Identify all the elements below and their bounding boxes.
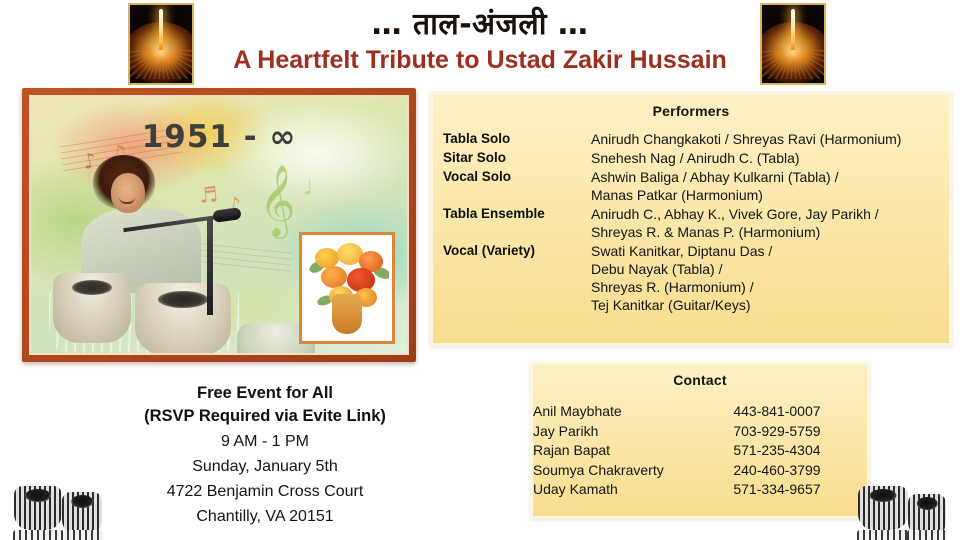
artwork-inner: ♪ ♫ ♬ ♪ ♩ 𝄞 1951 - ∞ bbox=[29, 95, 409, 355]
event-date: Sunday, January 5th bbox=[60, 455, 470, 478]
contact-phone[interactable]: 240-460-3799 bbox=[733, 461, 867, 481]
tabla-base-ring bbox=[13, 530, 64, 540]
performer-row: Vocal (Variety)Swati Kanitkar, Diptanu D… bbox=[443, 242, 939, 315]
flame-icon bbox=[159, 9, 163, 53]
performer-name-line: Tej Kanitkar (Guitar/Keys) bbox=[591, 296, 939, 314]
performer-row: Sitar SoloSnehesh Nag / Anirudh C. (Tabl… bbox=[443, 149, 939, 168]
diya-lamp-right bbox=[760, 3, 826, 85]
contact-phone[interactable]: 571-235-4304 bbox=[733, 441, 867, 461]
year-text: 1951 - ∞ bbox=[31, 119, 407, 155]
contact-row: Anil Maybhate443-841-0007 bbox=[533, 402, 867, 422]
diya-lamp-icon bbox=[762, 5, 824, 83]
performer-names: Anirudh Changkakoti / Shreyas Ravi (Harm… bbox=[591, 130, 939, 149]
event-headline-rsvp: (RSVP Required via Evite Link) bbox=[60, 405, 470, 428]
performer-name-line: Shreyas R. (Harmonium) / bbox=[591, 278, 939, 296]
performer-name-line: Anirudh Changkakoti / Shreyas Ravi (Harm… bbox=[591, 130, 939, 148]
treble-clef-icon: 𝄞 bbox=[259, 169, 296, 231]
contact-table-body: Anil Maybhate443-841-0007Jay Parikh703-9… bbox=[533, 402, 867, 500]
event-time: 9 AM - 1 PM bbox=[60, 430, 470, 453]
performers-title: Performers bbox=[443, 103, 939, 119]
diya-lamp-icon bbox=[130, 5, 192, 83]
tabla-dayan bbox=[908, 494, 946, 532]
performer-category-label: Vocal Solo bbox=[443, 168, 591, 205]
tabla-pair-icon-bottom-right bbox=[858, 466, 946, 532]
flower-bouquet-inset bbox=[299, 232, 395, 344]
performers-table-body: Tabla SoloAnirudh Changkakoti / Shreyas … bbox=[443, 130, 939, 315]
contact-name: Jay Parikh bbox=[533, 422, 733, 442]
performer-name-line: Swati Kanitkar, Diptanu Das / bbox=[591, 242, 939, 260]
contact-phone[interactable]: 571-334-9657 bbox=[733, 480, 867, 500]
contact-name: Uday Kamath bbox=[533, 480, 733, 500]
performer-name-line: Debu Nayak (Tabla) / bbox=[591, 260, 939, 278]
contact-row: Rajan Bapat571-235-4304 bbox=[533, 441, 867, 461]
event-address-line-2: Chantilly, VA 20151 bbox=[60, 505, 470, 528]
performer-name-line: Shreyas R. & Manas P. (Harmonium) bbox=[591, 223, 939, 241]
tabla-base-ring bbox=[61, 530, 103, 540]
contact-title: Contact bbox=[533, 372, 867, 388]
flower-icon bbox=[321, 266, 347, 288]
performer-name-line: Anirudh C., Abhay K., Vivek Gore, Jay Pa… bbox=[591, 205, 939, 223]
performer-name-line: Ashwin Baliga / Abhay Kulkarni (Tabla) / bbox=[591, 168, 939, 186]
event-address-line-1: 4722 Benjamin Cross Court bbox=[60, 480, 470, 503]
contact-name: Rajan Bapat bbox=[533, 441, 733, 461]
contact-table: Anil Maybhate443-841-0007Jay Parikh703-9… bbox=[533, 402, 867, 500]
contact-panel: Contact Anil Maybhate443-841-0007Jay Par… bbox=[530, 361, 870, 519]
contact-row: Jay Parikh703-929-5759 bbox=[533, 422, 867, 442]
tabla-drum-right bbox=[135, 283, 231, 355]
performer-names: Ashwin Baliga / Abhay Kulkarni (Tabla) /… bbox=[591, 168, 939, 205]
contact-phone[interactable]: 443-841-0007 bbox=[733, 402, 867, 422]
performer-row: Vocal SoloAshwin Baliga / Abhay Kulkarni… bbox=[443, 168, 939, 205]
performer-names: Snehesh Nag / Anirudh C. (Tabla) bbox=[591, 149, 939, 168]
page-subtitle: A Heartfelt Tribute to Ustad Zakir Hussa… bbox=[190, 45, 770, 75]
performer-name-line: Snehesh Nag / Anirudh C. (Tabla) bbox=[591, 149, 939, 167]
performer-row: Tabla SoloAnirudh Changkakoti / Shreyas … bbox=[443, 130, 939, 149]
performer-names: Anirudh C., Abhay K., Vivek Gore, Jay Pa… bbox=[591, 205, 939, 242]
performers-panel: Performers Tabla SoloAnirudh Changkakoti… bbox=[430, 92, 952, 346]
performer-category-label: Tabla Solo bbox=[443, 130, 591, 149]
contact-row: Soumya Chakraverty240-460-3799 bbox=[533, 461, 867, 481]
page-title-devanagari: … ताल-अंजली … bbox=[190, 6, 770, 44]
poster-header: … ताल-अंजली … A Heartfelt Tribute to Ust… bbox=[0, 0, 960, 88]
contact-phone[interactable]: 703-929-5759 bbox=[733, 422, 867, 442]
artwork-frame: ♪ ♫ ♬ ♪ ♩ 𝄞 1951 - ∞ bbox=[22, 88, 416, 362]
tabla-drum-left bbox=[53, 273, 131, 343]
tabla-bayan bbox=[858, 486, 908, 532]
tabla-bayan bbox=[14, 486, 62, 532]
musician-face bbox=[111, 173, 145, 213]
event-headline-free: Free Event for All bbox=[60, 382, 470, 405]
title-block: … ताल-अंजली … A Heartfelt Tribute to Ust… bbox=[190, 6, 770, 75]
tabla-body bbox=[858, 486, 908, 530]
contact-name: Soumya Chakraverty bbox=[533, 461, 733, 481]
tabla-base-ring bbox=[907, 530, 947, 540]
performer-category-label: Sitar Solo bbox=[443, 149, 591, 168]
performer-name-line: Manas Patkar (Harmonium) bbox=[591, 186, 939, 204]
music-note-icon: ♩ bbox=[302, 175, 314, 200]
tabla-pair-icon-bottom-left bbox=[14, 466, 102, 532]
flower-icon bbox=[315, 248, 339, 268]
bouquet-image bbox=[305, 238, 389, 338]
microphone-stand bbox=[207, 219, 213, 315]
event-details: Free Event for All (RSVP Required via Ev… bbox=[60, 382, 470, 528]
flame-icon bbox=[791, 9, 795, 53]
tabla-base-ring bbox=[857, 530, 910, 540]
performers-table: Tabla SoloAnirudh Changkakoti / Shreyas … bbox=[443, 130, 939, 315]
performer-names: Swati Kanitkar, Diptanu Das /Debu Nayak … bbox=[591, 242, 939, 315]
contact-row: Uday Kamath571-334-9657 bbox=[533, 480, 867, 500]
performer-category-label: Tabla Ensemble bbox=[443, 205, 591, 242]
microphone-icon bbox=[212, 207, 241, 223]
diya-lamp-left bbox=[128, 3, 194, 85]
contact-name: Anil Maybhate bbox=[533, 402, 733, 422]
performer-row: Tabla EnsembleAnirudh C., Abhay K., Vive… bbox=[443, 205, 939, 242]
tabla-body bbox=[14, 486, 62, 530]
tabla-dayan bbox=[62, 492, 102, 532]
vase-icon bbox=[332, 294, 362, 334]
performer-category-label: Vocal (Variety) bbox=[443, 242, 591, 315]
music-note-icon: ♬ bbox=[198, 182, 219, 208]
artwork-painting: ♪ ♫ ♬ ♪ ♩ 𝄞 1951 - ∞ bbox=[31, 97, 407, 353]
